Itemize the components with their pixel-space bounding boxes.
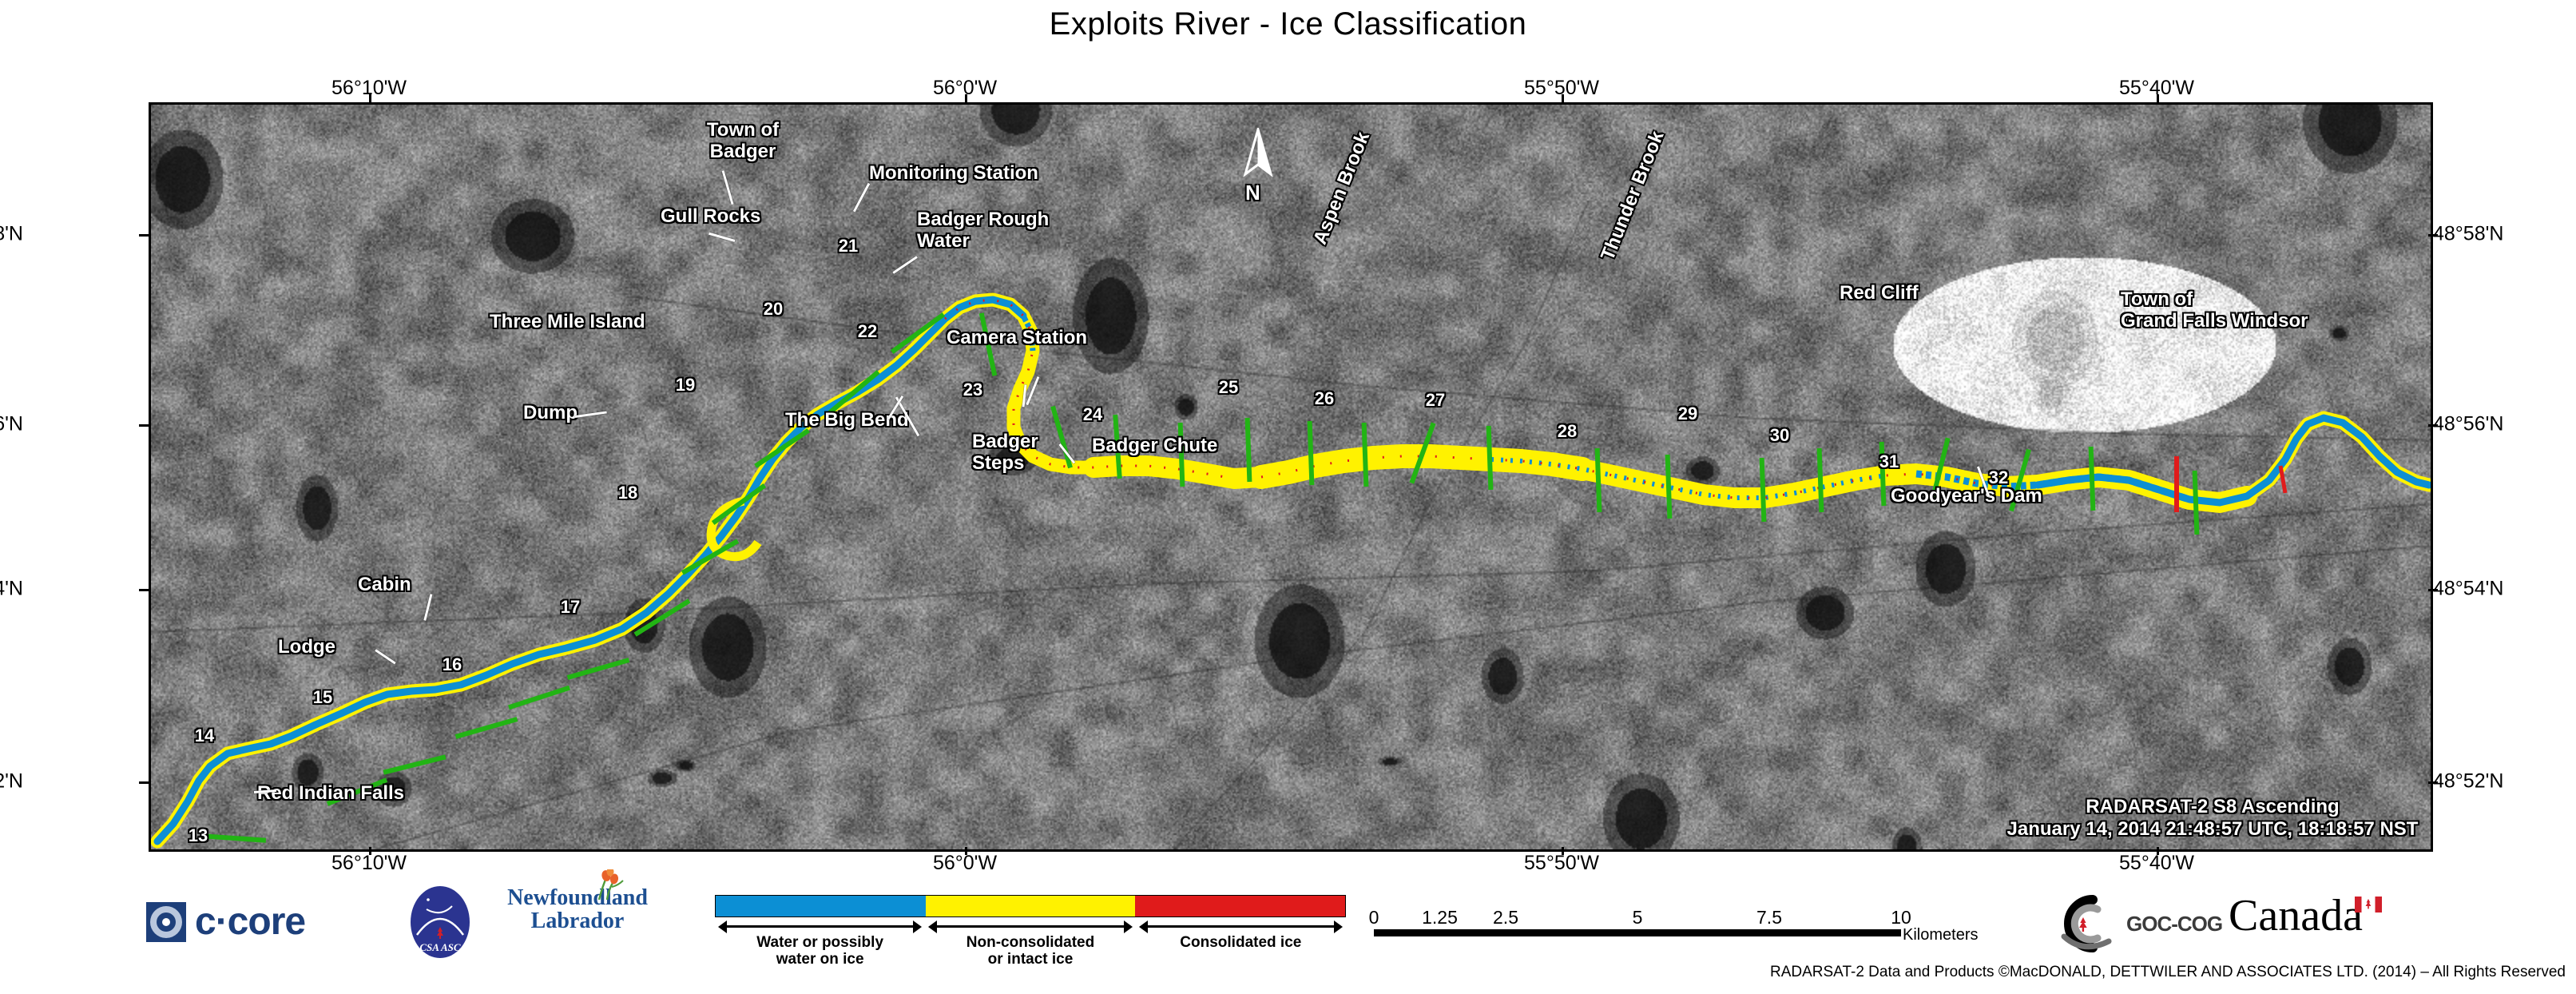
- legend-labels: Water or possibly water on iceNon-consol…: [715, 934, 1346, 968]
- goc-cog-wordmark: GOC-COG: [2126, 912, 2222, 936]
- legend-axis: [715, 919, 1346, 933]
- goc-cog-logo: GOC-COG: [2053, 895, 2222, 952]
- latitude-label: 48°58'N: [2433, 223, 2503, 246]
- scale-bar-tick-label: 0: [1369, 907, 1379, 928]
- ccore-target-icon: [145, 901, 187, 943]
- reach-number-label: 31: [1879, 451, 1899, 472]
- pitcher-plant-icon: [591, 869, 628, 901]
- legend-arrow-right: [913, 920, 922, 933]
- scale-bar-tick-label: 5: [1633, 907, 1643, 928]
- canada-flag-icon: [2355, 897, 2382, 912]
- ccore-logo: c·core: [145, 901, 305, 943]
- csa-asc-logo: CSA ASC: [409, 885, 471, 959]
- reach-number-label: 26: [1315, 388, 1334, 409]
- acquisition-datetime-label: January 14, 2014 21:48:57 UTC, 18:18:57 …: [2007, 818, 2419, 841]
- longitude-label: 56°0'W: [933, 852, 997, 875]
- copyright-notice: RADARSAT-2 Data and Products ©MacDONALD,…: [1770, 964, 2566, 981]
- reach-number-label: 25: [1219, 377, 1238, 398]
- graticule-tick: [139, 234, 149, 237]
- longitude-label: 55°50'W: [1524, 852, 1599, 875]
- page-title: Exploits River - Ice Classification: [0, 6, 2576, 42]
- graticule-tick: [369, 94, 371, 102]
- reach-number-label: 16: [443, 654, 462, 675]
- latitude-label: 48°58'N: [0, 223, 23, 246]
- graticule-tick: [2428, 424, 2438, 427]
- reach-number-label: 24: [1083, 404, 1102, 425]
- canada-wordmark-logo: Canada: [2229, 893, 2382, 938]
- latitude-label: 48°54'N: [0, 578, 23, 601]
- newfoundland-label: Newfoundland: [502, 887, 653, 909]
- reach-number-label: 13: [189, 825, 208, 846]
- legend-swatch: [1135, 896, 1345, 916]
- legend-swatch: [716, 896, 926, 916]
- reach-number-label: 29: [1678, 404, 1697, 424]
- latitude-label: 48°56'N: [0, 413, 23, 436]
- reach-number-label: 27: [1426, 390, 1445, 411]
- legend-swatch: [926, 896, 1136, 916]
- legend-class-label: Non-consolidated or intact ice: [925, 934, 1135, 968]
- graticule-tick: [2157, 847, 2159, 855]
- graticule-tick: [2428, 234, 2438, 237]
- ice-classification-overlay: [151, 105, 2431, 849]
- graticule-tick: [139, 589, 149, 591]
- legend-class-label: Water or possibly water on ice: [715, 934, 925, 968]
- north-arrow-label: N: [1245, 181, 1260, 205]
- legend-arrow-right: [1124, 920, 1133, 933]
- scale-bar-line: Kilometers: [1374, 929, 1901, 936]
- reach-number-label: 21: [839, 236, 858, 256]
- scale-bar-ticks: 01.252.557.510: [1374, 907, 1901, 928]
- longitude-label: 56°10'W: [331, 852, 407, 875]
- reach-number-label: 15: [313, 687, 332, 708]
- latitude-label: 48°54'N: [2433, 578, 2503, 601]
- reach-number-label: 30: [1770, 425, 1789, 446]
- reach-number-label: 19: [676, 375, 695, 396]
- newfoundland-labrador-logo: Newfoundland Labrador: [502, 887, 653, 956]
- legend: Water or possibly water on iceNon-consol…: [715, 895, 1346, 968]
- svg-text:CSA ASC: CSA ASC: [419, 941, 461, 953]
- latitude-label: 48°56'N: [2433, 413, 2503, 436]
- legend-arrow-right: [1334, 920, 1343, 933]
- map-canvas[interactable]: [149, 102, 2433, 852]
- legend-class-label: Consolidated ice: [1136, 934, 1346, 968]
- canada-wordmark: Canada: [2229, 893, 2363, 938]
- scale-bar-tick-label: 10: [1891, 907, 1911, 928]
- graticule-tick: [2157, 94, 2159, 102]
- legend-extent-line: [1147, 925, 1335, 928]
- labrador-label: Labrador: [502, 909, 653, 932]
- graticule-tick: [965, 94, 967, 102]
- legend-arrow-left: [928, 920, 937, 933]
- scale-bar-segment: [1374, 929, 1901, 936]
- longitude-label: 55°40'W: [2119, 852, 2194, 875]
- reach-number-label: 20: [764, 299, 783, 320]
- graticule-tick: [1562, 94, 1564, 102]
- legend-arrow-left: [1139, 920, 1148, 933]
- graticule-tick: [369, 847, 371, 855]
- reach-number-label: 18: [618, 483, 637, 503]
- scale-bar-tick-label: 2.5: [1493, 907, 1518, 928]
- legend-color-bar: [715, 895, 1346, 917]
- reach-number-label: 23: [963, 380, 982, 400]
- scale-bar: 01.252.557.510 Kilometers: [1374, 907, 1901, 936]
- graticule-tick: [139, 424, 149, 427]
- legend-arrow-left: [718, 920, 727, 933]
- scale-bar-tick-label: 1.25: [1422, 907, 1458, 928]
- acquisition-sensor-label: RADARSAT-2 S8 Ascending: [2086, 796, 2339, 818]
- legend-extent-line: [936, 925, 1124, 928]
- latitude-label: 48°52'N: [2433, 770, 2503, 793]
- reach-number-label: 32: [1989, 467, 2008, 488]
- latitude-label: 48°52'N: [0, 770, 23, 793]
- scale-bar-unit: Kilometers: [1903, 926, 1978, 944]
- graticule-tick: [965, 847, 967, 855]
- ccore-wordmark: c·core: [195, 903, 305, 941]
- reach-number-label: 28: [1558, 421, 1577, 442]
- graticule-tick: [139, 781, 149, 784]
- reach-number-label: 17: [561, 597, 580, 618]
- north-arrow-icon: N: [1234, 128, 1282, 216]
- graticule-tick: [1562, 847, 1564, 855]
- reach-number-label: 22: [858, 321, 877, 342]
- graticule-tick: [2428, 589, 2438, 591]
- graticule-tick: [2428, 781, 2438, 784]
- reach-number-label: 14: [195, 726, 214, 746]
- scale-bar-tick-label: 7.5: [1756, 907, 1782, 928]
- goc-swoosh-icon: [2053, 895, 2123, 952]
- legend-extent-line: [726, 925, 914, 928]
